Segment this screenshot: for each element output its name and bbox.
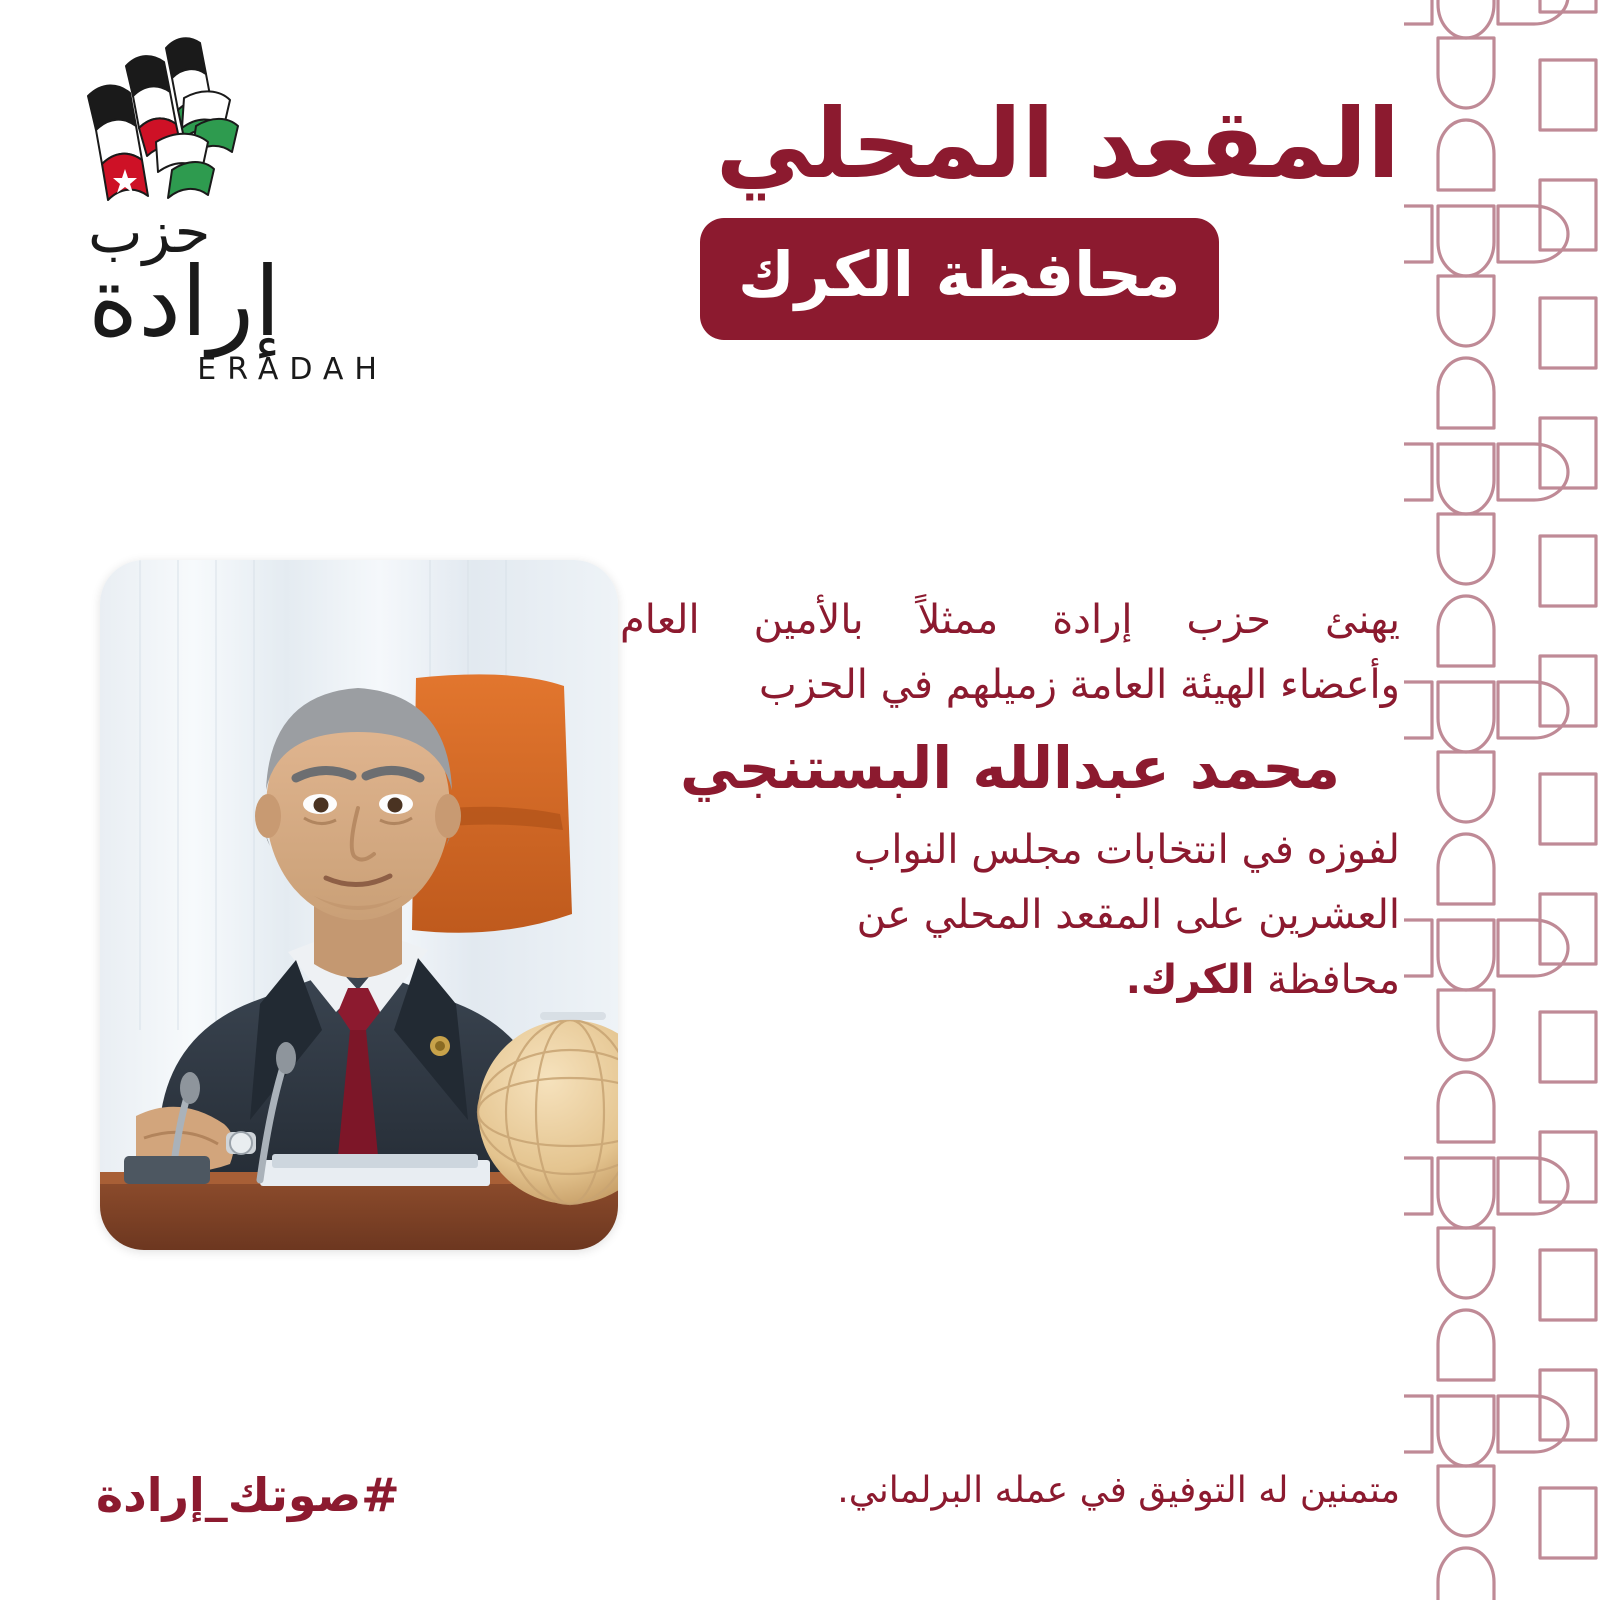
governorate-badge-wrap: محافظة الكرك <box>700 218 1400 340</box>
header-block: المقعد المحلي محافظة الكرك <box>700 96 1400 340</box>
decorative-arch-pattern <box>1404 0 1600 1600</box>
body-line-1: يهنئ حزب إرادة ممثلاً بالأمين العام <box>620 588 1400 653</box>
poster-card: حزب إرادة ERADAH المقعد المحلي محافظة ال… <box>0 0 1600 1600</box>
wordmark-eradah-arabic: إرادة <box>88 254 281 350</box>
body-line-5-governorate: الكرك. <box>1126 957 1255 1003</box>
congratulation-body: يهنئ حزب إرادة ممثلاً بالأمين العام وأعض… <box>620 588 1400 1012</box>
body-line-2: وأعضاء الهيئة العامة زميلهم في الحزب <box>620 653 1400 718</box>
page-title: المقعد المحلي <box>700 96 1400 194</box>
candidate-portrait-image <box>100 560 618 1250</box>
footer-wish-text: متمنين له التوفيق في عمله البرلماني. <box>600 1468 1400 1515</box>
wordmark-eradah-latin: ERADAH <box>197 352 388 387</box>
candidate-photo <box>100 560 618 1250</box>
governorate-badge: محافظة الكرك <box>700 218 1219 340</box>
body-line-3: لفوزه في انتخابات مجلس النواب <box>620 818 1400 883</box>
eradah-wordmark: حزب إرادة ERADAH <box>88 205 388 430</box>
body-line-5-prefix: محافظة <box>1254 957 1400 1003</box>
eradah-logo: حزب إرادة ERADAH <box>78 30 398 430</box>
footer-hashtag[interactable]: #صوتك_إرادة <box>96 1466 400 1526</box>
body-line-4: العشرين على المقعد المحلي عن <box>620 883 1400 948</box>
body-line-5: محافظة الكرك. <box>620 948 1400 1013</box>
winner-name: محمد عبدالله البستنجي <box>620 732 1400 805</box>
